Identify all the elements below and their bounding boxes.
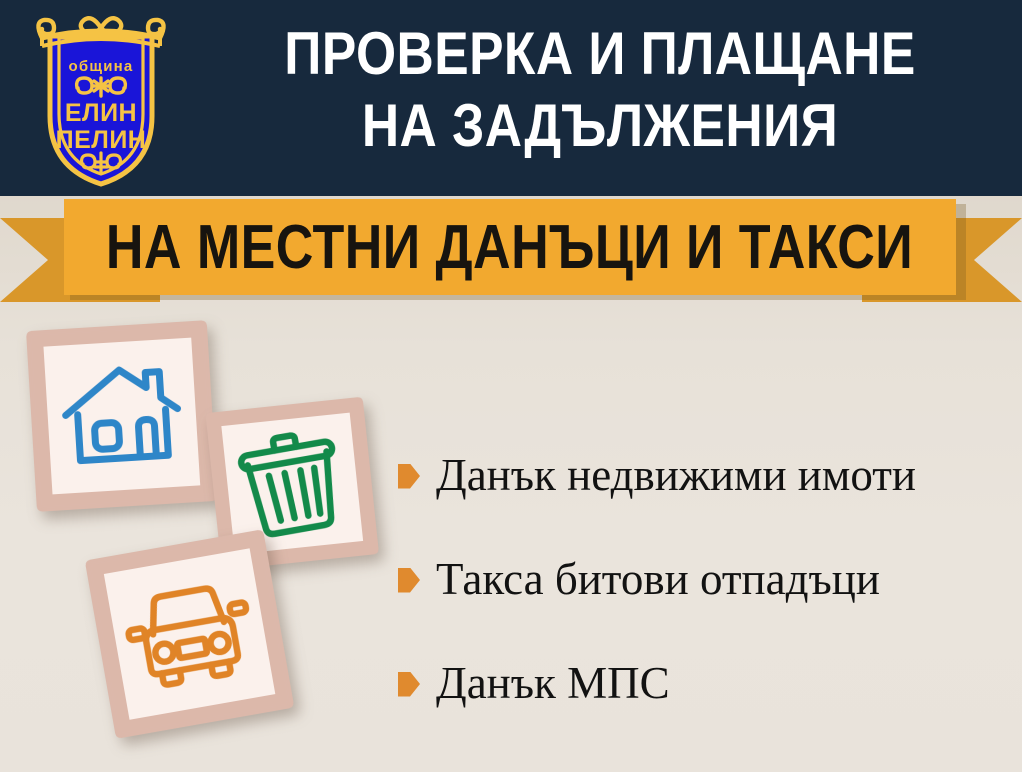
coat-of-arms-icon: община ЕЛИН ПЕЛИН (22, 8, 180, 190)
municipality-logo: община ЕЛИН ПЕЛИН (22, 8, 180, 190)
bullet-arrow-icon (398, 464, 420, 489)
list-item-label: Данък МПС (436, 660, 670, 707)
list-item[interactable]: Данък МПС (398, 632, 1008, 736)
page-title-line-1: ПРОВЕРКА И ПЛАЩАНЕ (243, 18, 957, 90)
bullet-arrow-icon (398, 672, 420, 697)
page-title: ПРОВЕРКА И ПЛАЩАНЕ НА ЗАДЪЛЖЕНИЯ (243, 18, 957, 162)
list-item[interactable]: Данък недвижими имоти (398, 424, 1008, 528)
list-item-label: Такса битови отпадъци (436, 556, 880, 603)
house-stamp (16, 310, 228, 522)
logo-top-word: община (69, 58, 134, 75)
car-stamp (74, 518, 306, 750)
stamp-card-house (16, 310, 228, 527)
ribbon-banner: НА МЕСТНИ ДАНЪЦИ И ТАКСИ (0, 196, 1022, 308)
logo-name-line-1: ЕЛИН (65, 99, 137, 127)
bullet-arrow-icon (398, 568, 420, 593)
ribbon-band: НА МЕСТНИ ДАНЪЦИ И ТАКСИ (64, 199, 956, 295)
poster-root: НА МЕСТНИ ДАНЪЦИ И ТАКСИ ПРОВЕРКА И ПЛАЩ… (0, 0, 1022, 772)
list-item[interactable]: Такса битови отпадъци (398, 528, 1008, 632)
list-item-label: Данък недвижими имоти (436, 452, 916, 499)
logo-name-line-2: ПЕЛИН (56, 126, 147, 154)
ribbon-text: НА МЕСТНИ ДАНЪЦИ И ТАКСИ (106, 212, 913, 283)
stamp-card-car (74, 518, 307, 755)
tax-types-list: Данък недвижими имоти Такса битови отпад… (398, 424, 1008, 736)
page-title-line-2: НА ЗАДЪЛЖЕНИЯ (243, 90, 957, 162)
